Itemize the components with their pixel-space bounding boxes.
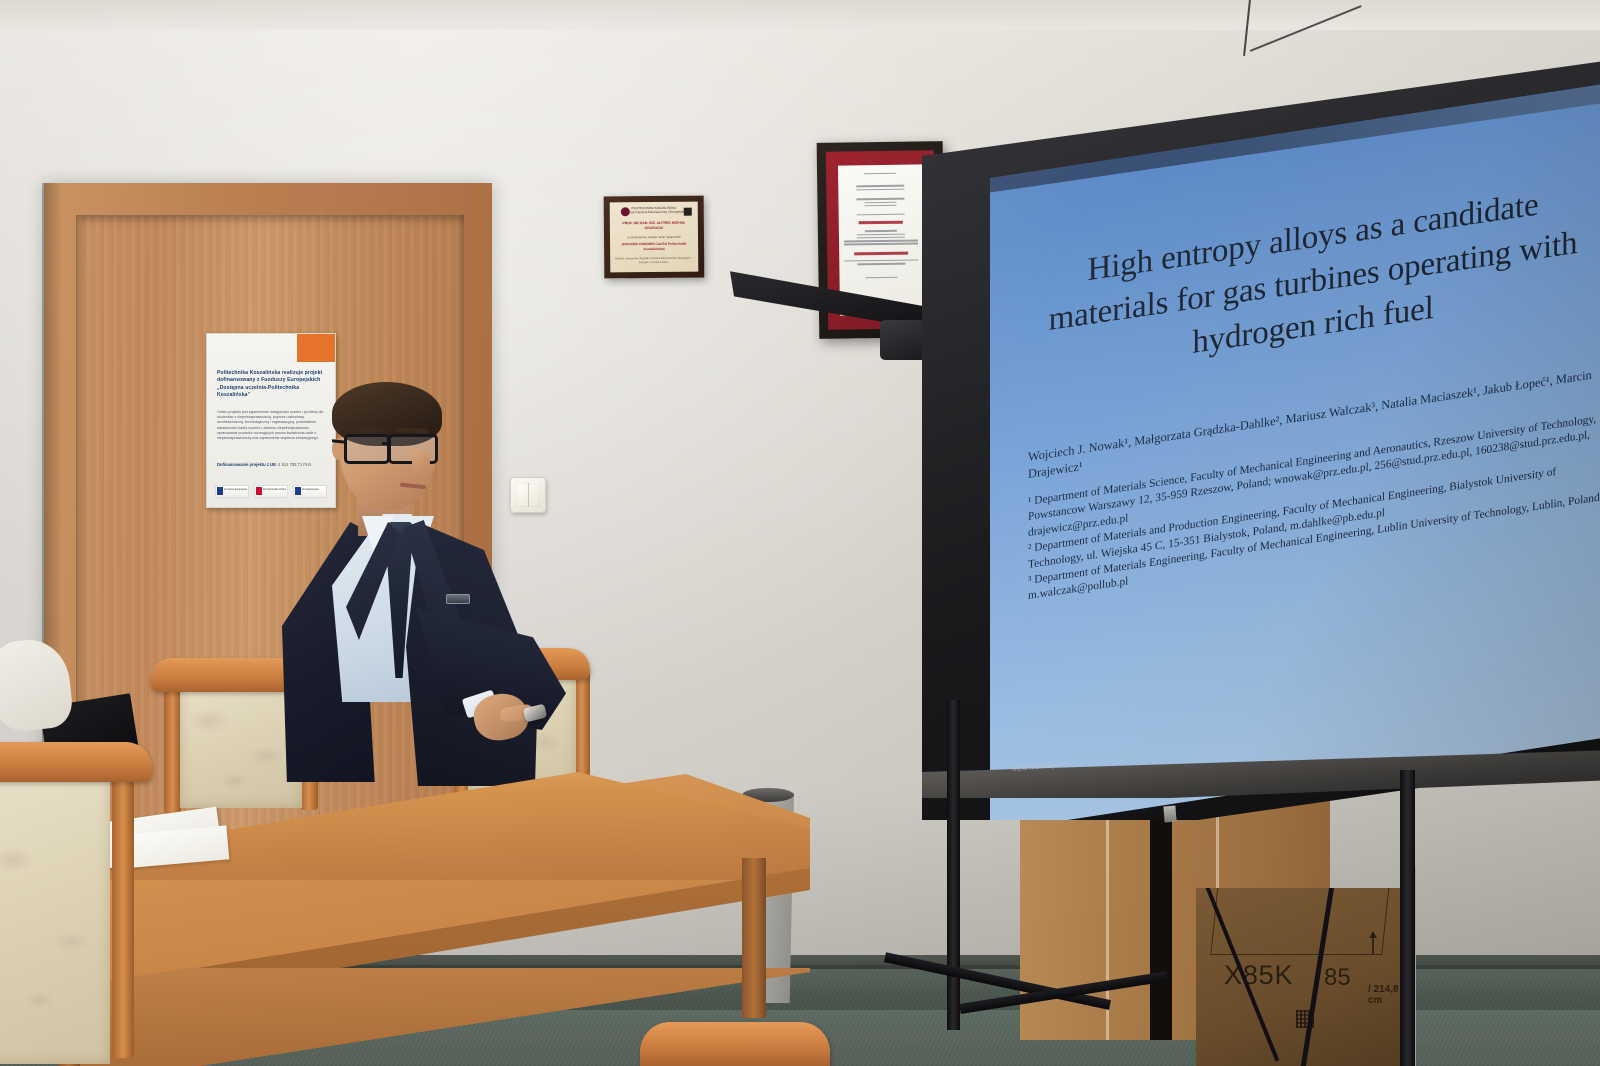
diploma-line	[865, 205, 896, 207]
diploma-honoree-name	[859, 221, 903, 225]
diploma-line	[865, 172, 896, 174]
slide-title: High entropy alloys as a candidate mater…	[1038, 175, 1588, 387]
chair[interactable]	[0, 742, 152, 1066]
diploma-line	[857, 213, 904, 215]
box-diagram	[1210, 888, 1389, 955]
diploma-line	[857, 188, 904, 190]
diploma-degree-line	[855, 251, 908, 255]
stand-leg-left	[947, 700, 960, 1030]
logo-fundusze-europejskie: Fundusze Europejskie	[215, 485, 249, 498]
logo-label-rp: Rzeczpospolita Polska	[263, 489, 286, 491]
box-model-label: X85K	[1224, 960, 1293, 991]
display-panel: RZESZOW UNIVERSITY OF TECHNOLOGY The Fac…	[926, 60, 1600, 820]
chair-top-rail	[0, 742, 152, 782]
diploma-line	[844, 240, 918, 243]
plaque-seal-icon	[621, 207, 630, 216]
diploma-line	[857, 237, 904, 239]
plaque-honoree: PROF. DR HAB. INŻ. ALFRED MICHAŁ KRASUCK…	[615, 221, 693, 231]
diploma-line	[844, 259, 918, 262]
plaque-footer: Dziekan i pracownicy Wydziału Inżynierii…	[615, 257, 693, 265]
plaque-title: DOKTORA HONORIS CAUSA Politechniki Kosza…	[615, 242, 693, 252]
nose	[412, 450, 430, 474]
logo-mark-right	[1076, 97, 1094, 122]
box-arrow-icon	[1372, 932, 1374, 954]
table-leg	[742, 858, 766, 1018]
diploma-line	[865, 201, 896, 203]
chair-backrest-pad	[0, 772, 110, 1064]
cardboard-tv-box: X85K 85 / 214,8 cm	[1196, 888, 1412, 1066]
lens-left	[344, 434, 390, 464]
glasses-bridge	[382, 442, 390, 445]
university-name: RZESZOW UNIVERSITY OF TECHNOLOGY	[989, 88, 1079, 116]
presentation-display[interactable]: RZESZOW UNIVERSITY OF TECHNOLOGY The Fac…	[912, 60, 1600, 820]
wall-plaque-face: POLITECHNIKA KOSZALIŃSKA Wydział Inżynie…	[610, 202, 699, 273]
diploma-line	[858, 263, 905, 265]
poster-accent-tab	[297, 334, 335, 362]
diploma-line	[866, 277, 897, 279]
plaque-emblem-icon	[684, 208, 692, 216]
plaque-middle-text: za podnoszenie rozwoju nauki i gospodark…	[615, 235, 693, 240]
presentation-room-photo: Politechnika Koszalińska realizuje proje…	[0, 0, 1600, 1066]
lapel-pin-icon	[446, 594, 470, 604]
wall-plaque-frame: POLITECHNIKA KOSZALIŃSKA Wydział Inżynie…	[604, 196, 705, 279]
diploma-line	[865, 230, 896, 232]
diploma-line	[844, 243, 918, 246]
diploma-line	[857, 185, 904, 187]
diploma-line	[857, 233, 904, 235]
chair-top-rail	[640, 1022, 830, 1066]
chair-post	[112, 768, 134, 1058]
logo-label-fe: Fundusze Europejskie	[224, 489, 247, 491]
logo-rzeczpospolita-polska: Rzeczpospolita Polska	[254, 485, 288, 498]
box-size-label: 85	[1324, 964, 1351, 992]
slide-surface: RZESZOW UNIVERSITY OF TECHNOLOGY The Fac…	[926, 60, 1600, 820]
diploma-line	[857, 198, 904, 200]
stand-leg-right	[1400, 770, 1415, 1066]
chair[interactable]	[640, 1022, 830, 1066]
presenter	[288, 376, 578, 776]
poster-funding-label: Dofinansowanie projektu z UE:	[217, 462, 277, 467]
display-power-led	[1163, 806, 1176, 823]
